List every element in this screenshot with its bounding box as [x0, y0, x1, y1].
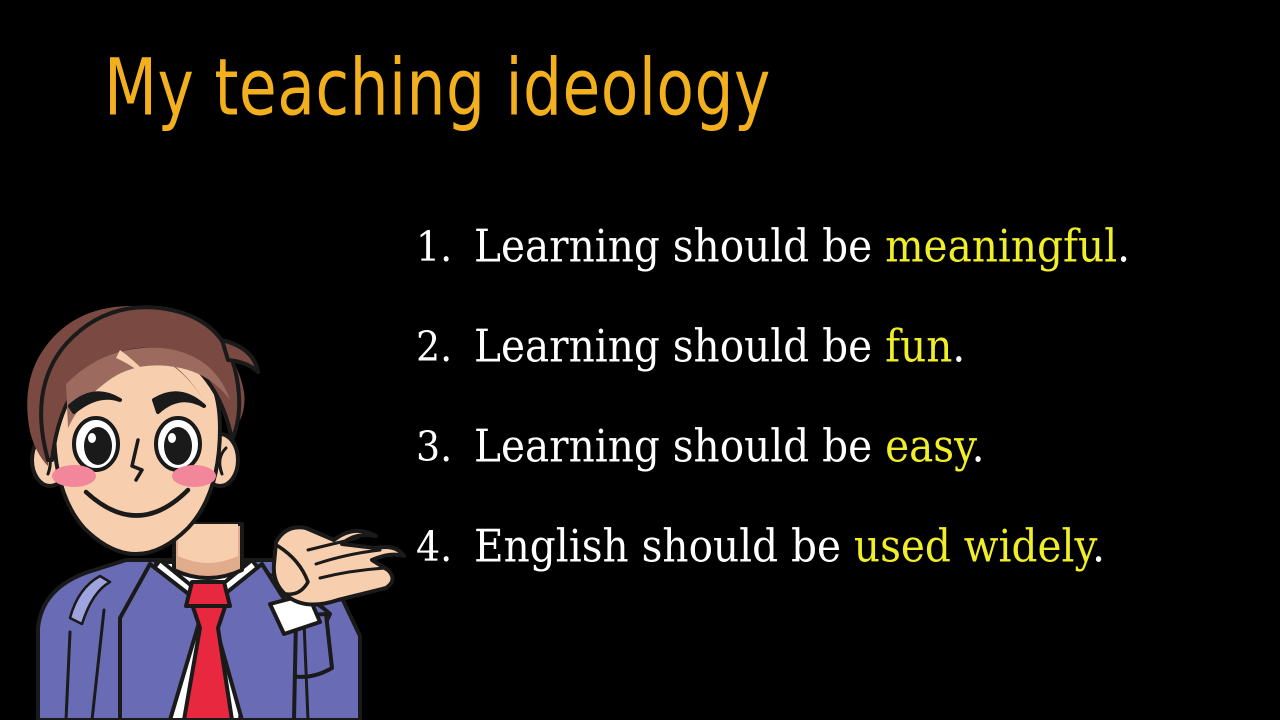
list-item-period: . [952, 320, 965, 373]
list-item: 4. English should be used widely. [416, 526, 1256, 626]
list-item: 2. Learning should be fun. [416, 326, 1256, 426]
list-item-highlight: easy [885, 420, 972, 473]
bullet-list: 1. Learning should be meaningful. 2. Lea… [416, 226, 1256, 626]
list-item-period: . [1092, 520, 1105, 573]
cartoon-businessman-illustration [8, 288, 408, 720]
list-item-text: English should be used widely. [474, 524, 1105, 569]
list-item-text: Learning should be fun. [474, 324, 965, 369]
list-item-highlight: used widely [854, 520, 1092, 573]
list-item-lead: Learning should be [474, 320, 885, 373]
list-item-lead: Learning should be [474, 420, 885, 473]
slide-canvas: My teaching ideology [0, 0, 1280, 720]
list-item-highlight: fun [885, 320, 952, 373]
list-item: 3. Learning should be easy. [416, 426, 1256, 526]
page-title: My teaching ideology [104, 50, 771, 128]
list-item-lead: Learning should be [474, 220, 885, 273]
list-item-period: . [972, 420, 985, 473]
list-item-text: Learning should be easy. [474, 424, 985, 469]
list-item-number: 3. [416, 426, 474, 467]
list-item-period: . [1117, 220, 1130, 273]
list-item-text: Learning should be meaningful. [474, 224, 1130, 269]
list-item-number: 4. [416, 526, 474, 567]
list-item: 1. Learning should be meaningful. [416, 226, 1256, 326]
list-item-highlight: meaningful [885, 220, 1117, 273]
list-item-number: 1. [416, 226, 474, 267]
list-item-number: 2. [416, 326, 474, 367]
list-item-lead: English should be [474, 520, 854, 573]
